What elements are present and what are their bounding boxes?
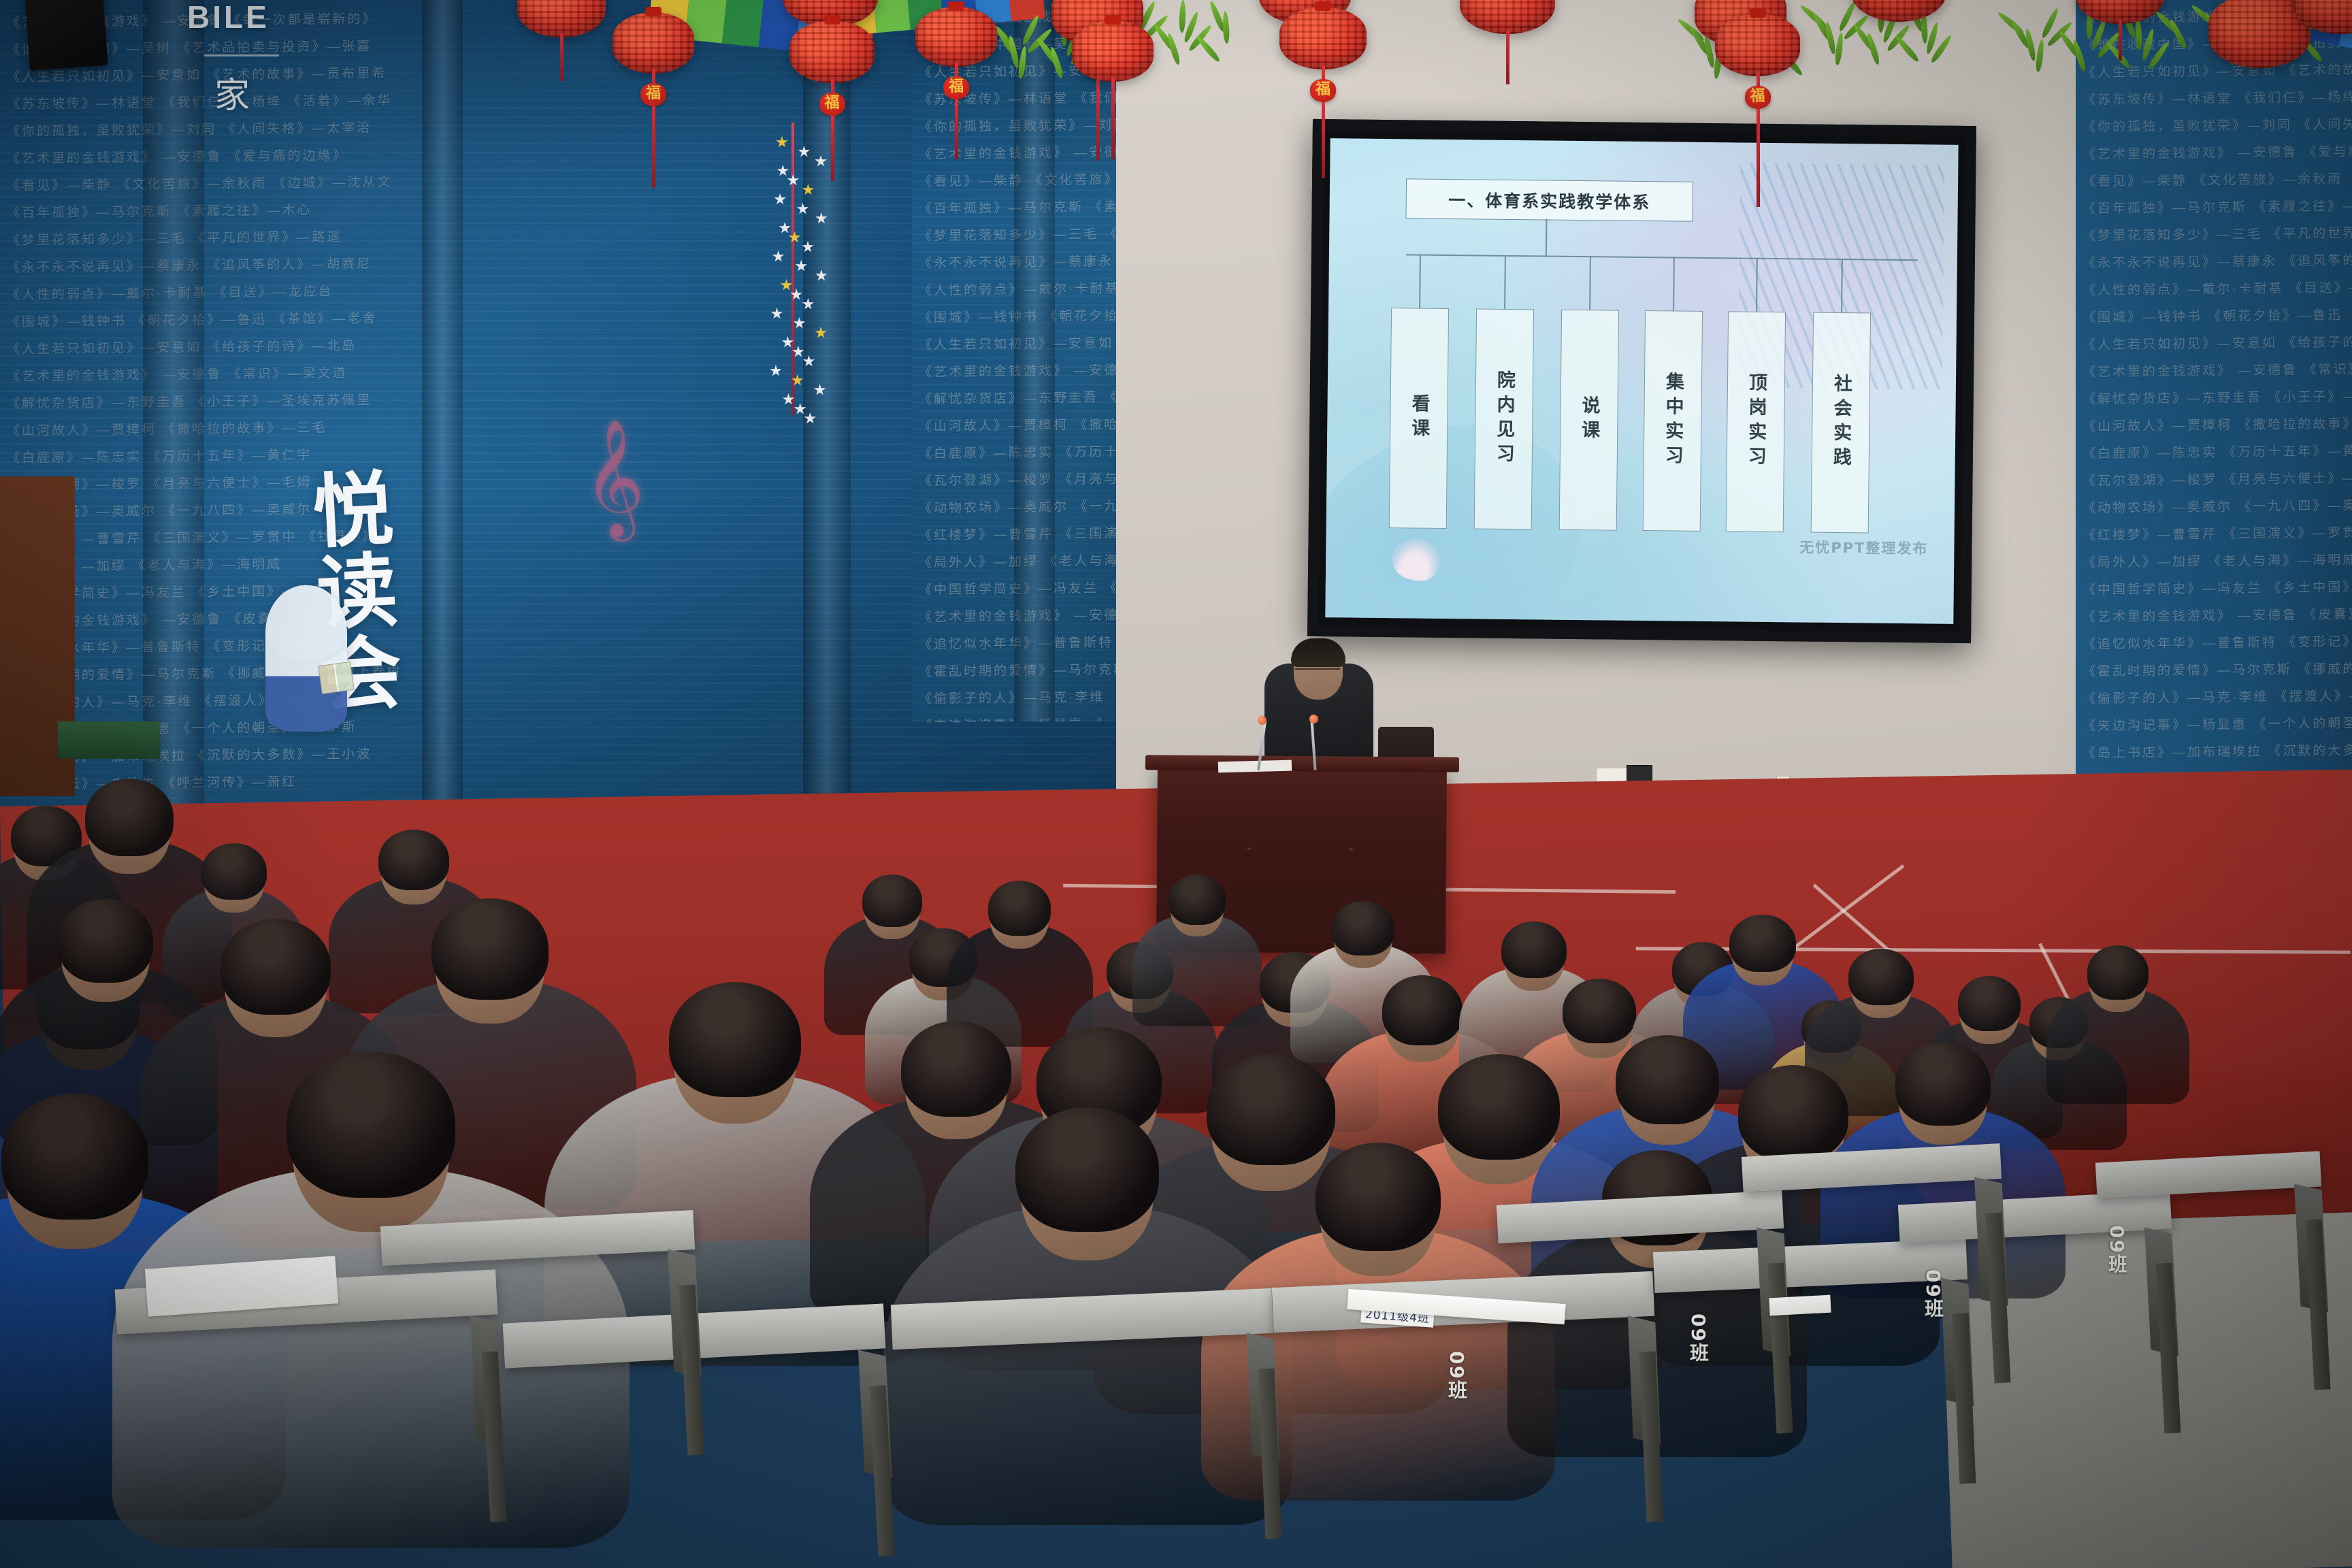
audience-member-hair	[287, 1051, 455, 1198]
lantern-cap	[1315, 1, 1331, 11]
lantern-cap	[1105, 15, 1121, 24]
red-paper-lantern	[789, 20, 875, 83]
audience-member-hair	[1501, 921, 1566, 978]
desk-class-tag: 09班	[1443, 1351, 1470, 1401]
lecture-hall-photo: 《艺术里的金钱游戏》 —安德鲁 《每一次都是崭新的》《谁在收藏中国》—吴树 《艺…	[0, 0, 2352, 1568]
fortune-ornament: 福	[1310, 79, 1336, 102]
desk-class-tag: 09班	[1684, 1313, 1712, 1363]
fortune-tassel	[1322, 102, 1325, 178]
fortune-ornament: 福	[1745, 86, 1771, 109]
lantern-cap	[645, 7, 661, 16]
audience-member-hair	[1015, 1107, 1159, 1231]
org-chart-box-3: 说课	[1559, 310, 1619, 531]
banner-sign-sub: 家	[214, 67, 250, 118]
audience-member-hair	[669, 982, 801, 1097]
org-chart-box-label: 顶岗实习	[1742, 373, 1770, 471]
lantern-cap	[1750, 8, 1766, 18]
lantern-tassel	[1111, 78, 1115, 159]
desk-class-tag: 09班	[2103, 1225, 2130, 1275]
org-chart-box-2: 院内见习	[1474, 308, 1534, 529]
green-panel	[58, 721, 160, 759]
org-chart-boxes: 看课院内见习说课集中实习顶岗实习社会实践	[1389, 308, 1935, 538]
audience-member-hair	[1848, 949, 1913, 1005]
audience-member-hair	[901, 1021, 1011, 1117]
audience-member-hair	[1563, 979, 1636, 1043]
projection-screen: 一、体育系实践教学体系 看课院内见习说课集中实习顶岗实习社会实践 无忧PPT整理…	[1325, 138, 1958, 624]
presenter-glasses	[1295, 668, 1340, 679]
fortune-tassel	[831, 116, 834, 181]
org-chart-box-label: 说课	[1575, 395, 1603, 444]
desk-class-tag: 09班	[1919, 1269, 1946, 1319]
audience-member-hair	[2087, 945, 2149, 999]
slide-watermark: 无忧PPT整理发布	[1799, 536, 1928, 558]
audience-member-hair	[220, 919, 331, 1015]
lantern-cap	[824, 15, 840, 24]
lantern-tassel	[2119, 20, 2122, 61]
org-chart-box-1: 看课	[1389, 308, 1449, 529]
podium-chevron-trim	[1198, 847, 1403, 898]
org-chart-box-label: 社会实践	[1827, 374, 1855, 472]
red-paper-lantern	[1072, 20, 1154, 82]
org-chart-box-4: 集中实习	[1643, 310, 1703, 532]
org-chart-trunk	[1546, 219, 1547, 256]
fortune-ornament: 福	[640, 83, 666, 106]
audience-member-hair	[1, 1094, 148, 1220]
lantern-tassel	[1506, 30, 1509, 84]
wall-speaker-box	[24, 0, 108, 71]
red-paper-lantern	[612, 12, 694, 73]
audience-member-hair	[1207, 1054, 1335, 1165]
red-paper-lantern	[915, 7, 997, 67]
handout-paper	[1769, 1295, 1831, 1316]
org-chart-box-label: 看课	[1405, 393, 1433, 442]
audience-member-hair	[85, 779, 174, 856]
audience-member-hair	[1738, 1065, 1848, 1161]
fortune-tassel	[1757, 109, 1760, 207]
lantern-tassel	[560, 33, 563, 81]
lantern-cap	[948, 1, 964, 11]
audience-member-hair	[862, 875, 923, 927]
right-banner-text: 《艺术里的金钱游戏》 —安德鲁 《每一次都是崭新的》《谁在收藏中国》—吴树 《艺…	[2076, 0, 2352, 832]
garland-string	[791, 122, 794, 415]
projection-screen-frame: 一、体育系实践教学体系 看课院内见习说课集中实习顶岗实习社会实践 无忧PPT整理…	[1307, 119, 1976, 643]
org-chart-box-label: 集中实习	[1659, 372, 1687, 470]
audience-member-hair	[988, 881, 1051, 936]
org-chart-drops	[1405, 254, 1918, 314]
audience-member-hair	[1895, 1042, 1991, 1125]
microphone-left-head	[1258, 716, 1267, 725]
podium-top-surface	[1145, 755, 1459, 772]
fortune-tassel	[652, 106, 655, 188]
reading-mascot-figure	[265, 585, 347, 732]
audience-member-hair	[431, 898, 549, 1000]
audience-member-hair	[1616, 1035, 1718, 1124]
audience-member-hair	[201, 843, 266, 900]
org-chart-box-5: 顶岗实习	[1726, 311, 1786, 532]
red-paper-lantern	[1279, 7, 1367, 69]
org-chart-box-6: 社会实践	[1811, 312, 1871, 534]
fortune-ornament: 福	[943, 76, 969, 99]
audience-member-hair	[1316, 1143, 1441, 1251]
org-chart-box-label: 院内见习	[1490, 370, 1518, 468]
audience-member-hair	[1438, 1054, 1559, 1160]
audience-member-hair	[1382, 975, 1463, 1045]
audience-member-hair	[378, 830, 449, 890]
fortune-tassel	[955, 99, 958, 159]
audience-member-hair	[1332, 901, 1395, 955]
red-paper-lantern	[1715, 14, 1800, 76]
right-side-banner: 《艺术里的金钱游戏》 —安德鲁 《每一次都是崭新的》《谁在收藏中国》—吴树 《艺…	[2076, 0, 2352, 830]
audience-member-hair	[58, 899, 153, 982]
slide-title: 一、体育系实践教学体系	[1405, 178, 1693, 221]
podium-papers	[1218, 760, 1292, 773]
music-note-decoration: 𝄞	[576, 409, 723, 598]
fortune-tassel	[1096, 79, 1100, 161]
microphone-right-head	[1309, 715, 1318, 723]
audience-member-hair	[1729, 915, 1795, 972]
fortune-ornament: 福	[819, 93, 845, 116]
audience-member-hair	[1958, 976, 2021, 1031]
banner-sign-text: BILE	[187, 0, 269, 35]
audience-member-hair	[1169, 875, 1226, 925]
